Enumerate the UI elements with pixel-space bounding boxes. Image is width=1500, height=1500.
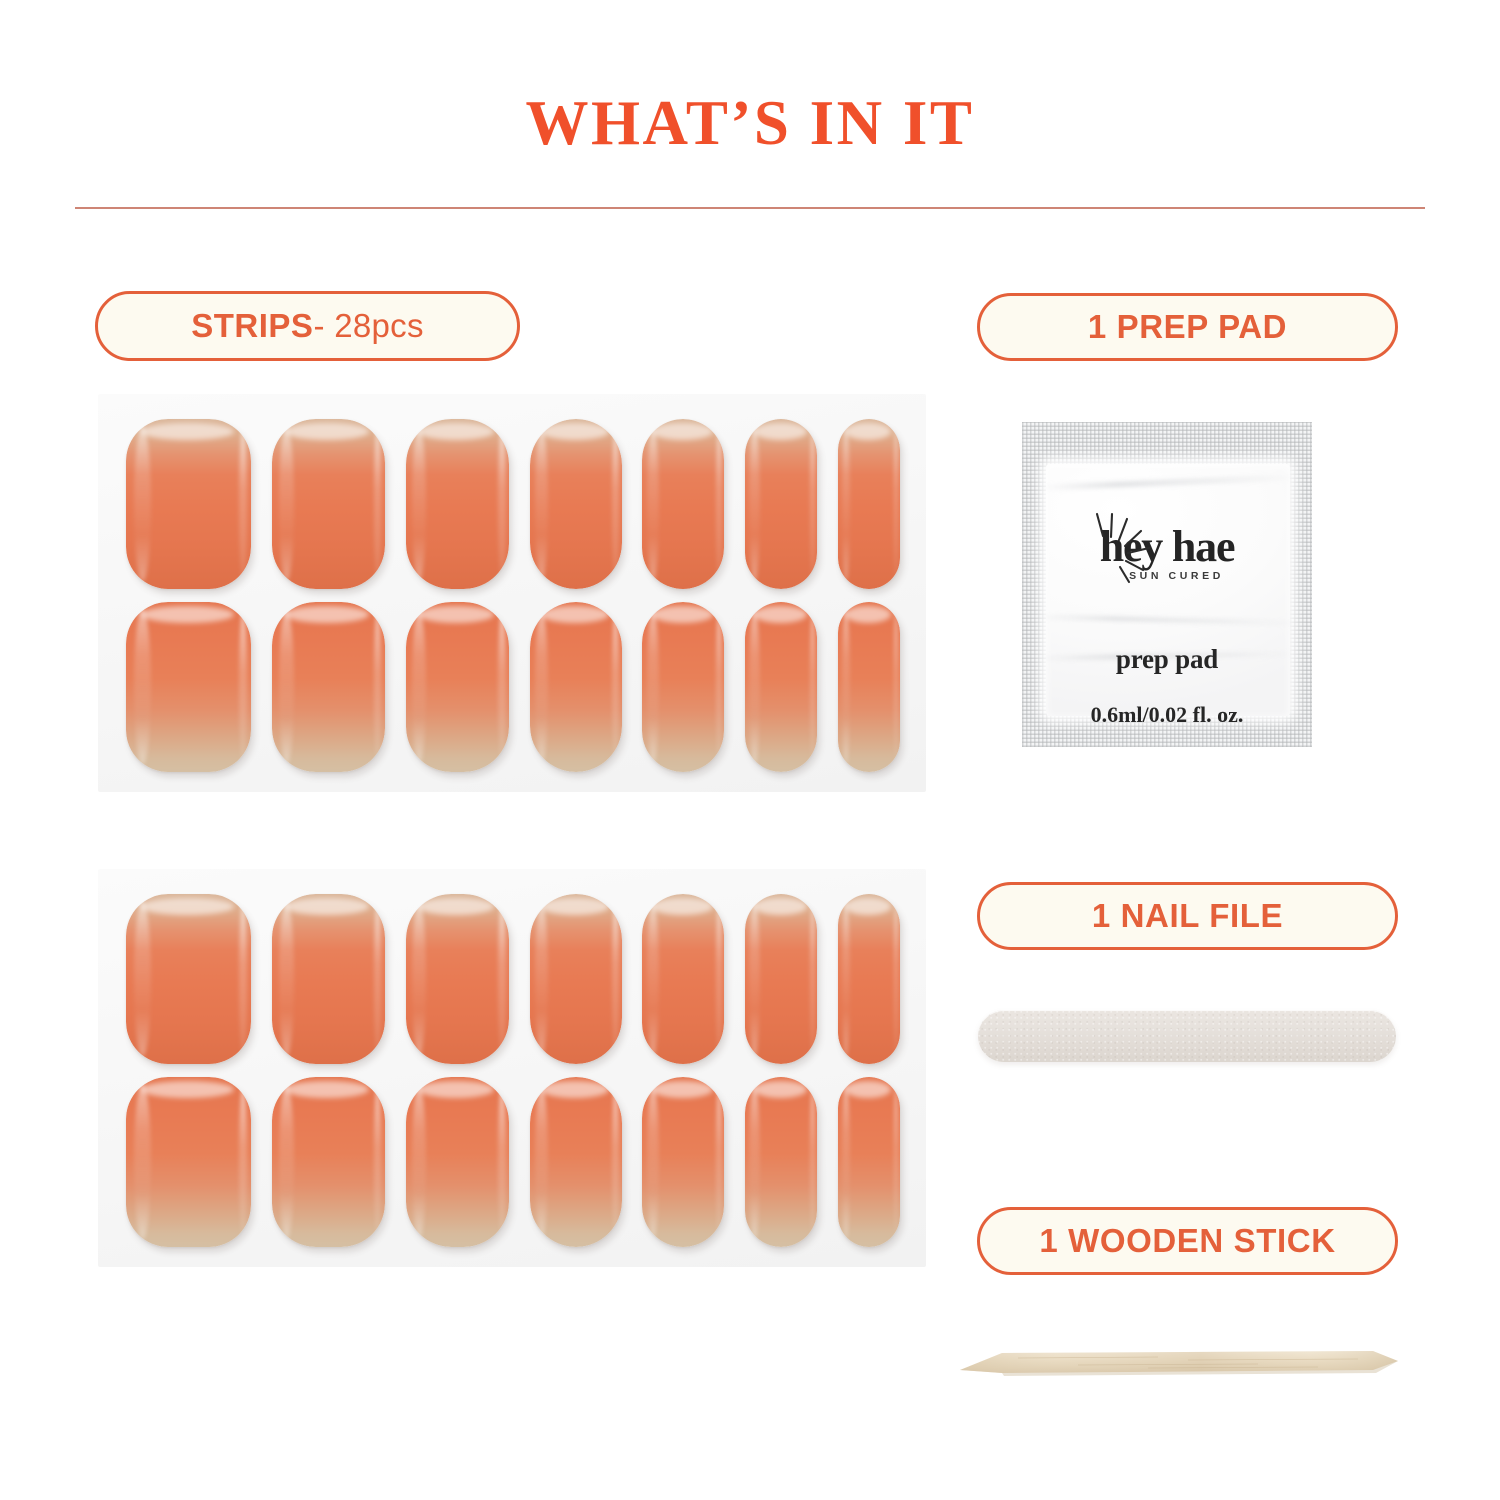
nail-gloss-highlight — [647, 426, 658, 582]
nail-gloss-highlight — [810, 1086, 815, 1239]
nail-strip — [126, 419, 251, 589]
nail-strip — [838, 602, 900, 772]
nail-gloss-highlight — [535, 609, 548, 765]
nail-gloss-highlight — [647, 609, 658, 765]
nail-strip — [272, 602, 385, 772]
nail-strip — [126, 1077, 251, 1247]
nail-gloss-highlight — [716, 611, 722, 764]
nail-strip — [745, 602, 817, 772]
nail-strip — [838, 1077, 900, 1247]
packet-face — [1046, 464, 1290, 716]
nail-gloss-highlight — [749, 901, 759, 1057]
nail-gloss-highlight — [749, 426, 759, 582]
nail-row — [98, 894, 926, 1074]
nail-gloss-highlight — [134, 1084, 152, 1240]
header-divider — [75, 207, 1425, 209]
nail-strip — [838, 419, 900, 589]
badge-strips-label: STRIPS — [191, 307, 313, 345]
nail-strip — [126, 602, 251, 772]
nail-gloss-highlight — [612, 903, 618, 1056]
nail-strip — [745, 894, 817, 1064]
nail-gloss-highlight — [894, 903, 898, 1056]
nail-strip — [406, 1077, 509, 1247]
nail-gloss-highlight — [716, 1086, 722, 1239]
nail-gloss-highlight — [612, 1086, 618, 1239]
nail-gloss-highlight — [612, 611, 618, 764]
badge-nail-file: 1 NAIL FILE — [977, 882, 1398, 950]
nail-gloss-highlight — [239, 428, 248, 581]
nail-gloss-highlight — [134, 901, 152, 1057]
nail-strip — [642, 602, 724, 772]
nail-row — [98, 419, 926, 599]
badge-strips-count: - 28pcs — [313, 307, 423, 345]
nail-strip — [530, 419, 622, 589]
nail-strip — [642, 419, 724, 589]
nail-strip — [745, 1077, 817, 1247]
nail-strip — [406, 602, 509, 772]
badge-prep-pad: 1 PREP PAD — [977, 293, 1398, 361]
prep-pad-packet: hey hae SUN CURED prep pad 0.6ml/0.02 fl… — [1022, 422, 1312, 747]
nail-gloss-highlight — [498, 611, 505, 764]
nail-strip — [642, 1077, 724, 1247]
nail-gloss-highlight — [535, 1084, 548, 1240]
nail-gloss-highlight — [716, 428, 722, 581]
nail-strip — [272, 419, 385, 589]
nail-strip-sheet — [98, 869, 926, 1267]
nail-strip — [530, 894, 622, 1064]
badge-strips: STRIPS - 28pcs — [95, 291, 520, 361]
nail-strip — [642, 894, 724, 1064]
nail-gloss-highlight — [239, 1086, 248, 1239]
nail-gloss-highlight — [647, 901, 658, 1057]
nail-strip — [272, 894, 385, 1064]
nail-row — [98, 1077, 926, 1257]
nail-gloss-highlight — [134, 426, 152, 582]
nail-gloss-highlight — [498, 428, 505, 581]
wooden-stick-image — [958, 1340, 1408, 1384]
nail-gloss-highlight — [134, 609, 152, 765]
packet-product-name: prep pad — [1022, 644, 1312, 675]
badge-wooden-stick: 1 WOODEN STICK — [977, 1207, 1398, 1275]
whats-in-it-infographic: WHAT’S IN IT STRIPS - 28pcs 1 PREP PAD h… — [0, 0, 1500, 1500]
nail-gloss-highlight — [894, 1086, 898, 1239]
page-title: WHAT’S IN IT — [0, 92, 1500, 155]
nail-file-image — [978, 1010, 1396, 1062]
brand-name: hey hae — [1100, 526, 1235, 568]
nail-gloss-highlight — [498, 1086, 505, 1239]
nail-strip-sheet — [98, 394, 926, 792]
nail-strip — [406, 894, 509, 1064]
nail-gloss-highlight — [647, 1084, 658, 1240]
nail-gloss-highlight — [612, 428, 618, 581]
nail-gloss-highlight — [239, 611, 248, 764]
nail-gloss-highlight — [810, 611, 815, 764]
nail-strip — [745, 419, 817, 589]
nail-gloss-highlight — [894, 611, 898, 764]
nail-gloss-highlight — [749, 609, 759, 765]
nail-gloss-highlight — [535, 426, 548, 582]
brand-tagline: SUN CURED — [1129, 570, 1224, 582]
nail-strip — [406, 419, 509, 589]
nail-gloss-highlight — [749, 1084, 759, 1240]
nail-strip — [838, 894, 900, 1064]
nail-gloss-highlight — [498, 903, 505, 1056]
nail-gloss-highlight — [716, 903, 722, 1056]
nail-strip — [530, 602, 622, 772]
packet-volume: 0.6ml/0.02 fl. oz. — [1022, 702, 1312, 728]
nail-row — [98, 602, 926, 782]
nail-strip — [126, 894, 251, 1064]
nail-strip — [272, 1077, 385, 1247]
brand-logo: hey hae SUN CURED — [1022, 526, 1312, 568]
nail-gloss-highlight — [894, 428, 898, 581]
nail-gloss-highlight — [535, 901, 548, 1057]
nail-strip — [530, 1077, 622, 1247]
nail-gloss-highlight — [239, 903, 248, 1056]
nail-gloss-highlight — [810, 428, 815, 581]
nail-gloss-highlight — [810, 903, 815, 1056]
